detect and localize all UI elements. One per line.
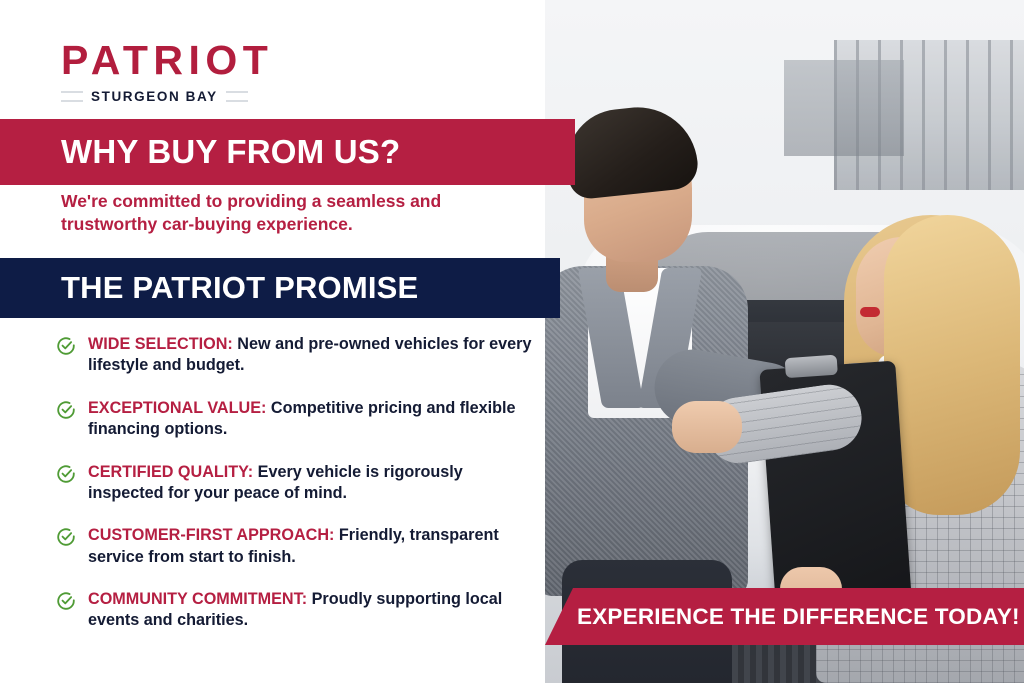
list-item: CERTIFIED QUALITY: Every vehicle is rigo…: [55, 462, 535, 505]
showroom-wall-panel: [784, 60, 904, 156]
circle-check-icon: [55, 399, 77, 421]
logo-location: STURGEON BAY: [91, 89, 218, 104]
headline-band: WHY BUY FROM US?: [0, 119, 575, 185]
list-item: EXCEPTIONAL VALUE: Competitive pricing a…: [55, 398, 535, 441]
female-hair-front: [884, 215, 1020, 515]
promise-label: COMMUNITY COMMITMENT:: [88, 590, 307, 608]
circle-check-icon: [55, 335, 77, 357]
promise-list: WIDE SELECTION: New and pre-owned vehicl…: [55, 334, 535, 653]
promise-text: COMMUNITY COMMITMENT: Proudly supporting…: [88, 589, 535, 632]
patriot-logo: PATRIOT STURGEON BAY: [61, 40, 361, 104]
headline-title: WHY BUY FROM US?: [61, 133, 400, 171]
circle-check-icon: [55, 590, 77, 612]
logo-sublockup: STURGEON BAY: [61, 89, 227, 104]
cta-banner[interactable]: EXPERIENCE THE DIFFERENCE TODAY!: [545, 588, 1024, 645]
showroom-handshake-photo: [468, 0, 1024, 683]
promise-label: CERTIFIED QUALITY:: [88, 463, 253, 481]
logo-rule-right: [226, 91, 248, 102]
promise-band-title: THE PATRIOT PROMISE: [61, 270, 418, 306]
promise-text: WIDE SELECTION: New and pre-owned vehicl…: [88, 334, 535, 377]
promise-text: CERTIFIED QUALITY: Every vehicle is rigo…: [88, 462, 535, 505]
logo-wordmark: PATRIOT: [61, 40, 361, 81]
tagline-text: We're committed to providing a seamless …: [61, 190, 531, 237]
advertisement-canvas: PATRIOT STURGEON BAY WHY BUY FROM US? We…: [0, 0, 1024, 683]
promise-text: CUSTOMER-FIRST APPROACH: Friendly, trans…: [88, 525, 535, 568]
logo-rule-left: [61, 91, 83, 102]
list-item: COMMUNITY COMMITMENT: Proudly supporting…: [55, 589, 535, 632]
circle-check-icon: [55, 463, 77, 485]
list-item: WIDE SELECTION: New and pre-owned vehicl…: [55, 334, 535, 377]
female-hand: [672, 401, 742, 453]
promise-text: EXCEPTIONAL VALUE: Competitive pricing a…: [88, 398, 535, 441]
promise-label: EXCEPTIONAL VALUE:: [88, 399, 266, 417]
female-lips: [860, 307, 880, 317]
promise-band: THE PATRIOT PROMISE: [0, 258, 560, 318]
cta-label: EXPERIENCE THE DIFFERENCE TODAY!: [577, 604, 1020, 630]
list-item: CUSTOMER-FIRST APPROACH: Friendly, trans…: [55, 525, 535, 568]
promise-label: CUSTOMER-FIRST APPROACH:: [88, 526, 334, 544]
promise-label: WIDE SELECTION:: [88, 335, 233, 353]
circle-check-icon: [55, 526, 77, 548]
male-hair: [562, 101, 700, 200]
